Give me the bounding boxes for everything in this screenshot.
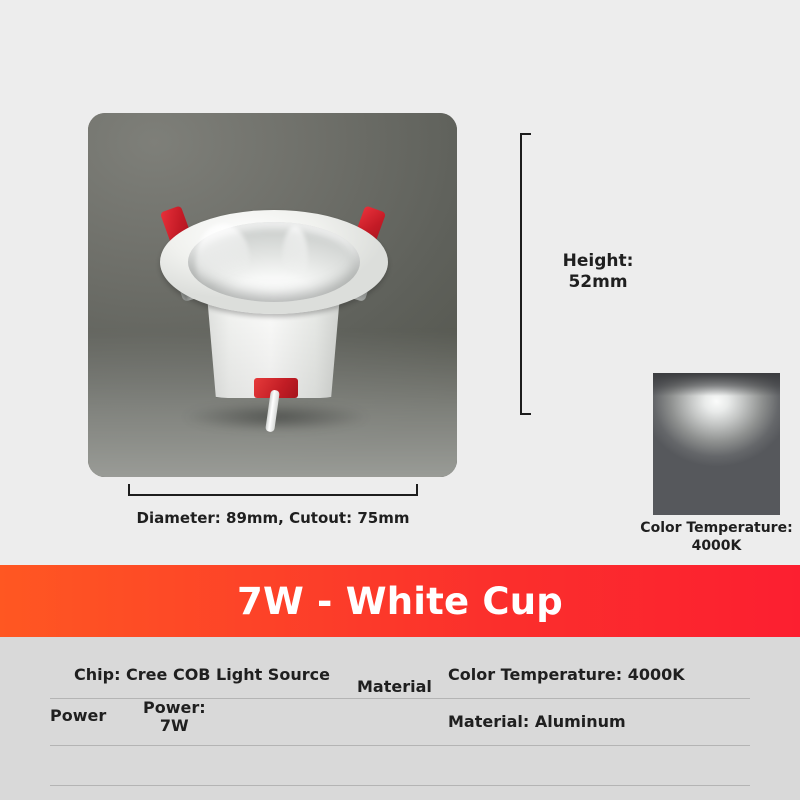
color-temperature-swatch-label: Color Temperature: 4000K xyxy=(628,520,800,555)
dimension-diagram-area: Height: 52mm Diameter: 89mm, Cutout: 75m… xyxy=(0,0,800,565)
spec-empty-cell-right xyxy=(448,745,748,785)
spec-power-empty-cell xyxy=(74,698,454,745)
product-title: 7W - White Cup xyxy=(237,583,563,620)
color-temperature-swatch[interactable] xyxy=(653,373,780,515)
spec-material-value: Material: Aluminum xyxy=(448,698,748,745)
spec-color-temperature-value: Color Temperature: 4000K xyxy=(448,651,748,698)
height-dimension-label: Height: 52mm xyxy=(533,251,663,292)
table-row xyxy=(50,745,750,786)
product-photo-card[interactable] xyxy=(88,113,457,477)
diameter-bracket-tick-right xyxy=(416,484,418,496)
swatch-top-shadow xyxy=(653,373,780,396)
product-spec-sheet: Height: 52mm Diameter: 89mm, Cutout: 75m… xyxy=(0,0,800,800)
spec-power-value: Power: 7W xyxy=(143,699,206,734)
reflector-highlight-left xyxy=(196,224,250,298)
product-title-banner: 7W - White Cup xyxy=(0,565,800,637)
height-bracket-tick-top xyxy=(520,133,531,135)
height-bracket-tick-bottom xyxy=(520,413,531,415)
diameter-dimension-bracket xyxy=(128,483,418,496)
diameter-bracket-spine xyxy=(128,494,418,496)
spec-material-label: Material xyxy=(357,678,432,696)
diameter-dimension-label: Diameter: 89mm, Cutout: 75mm xyxy=(88,509,458,527)
height-dimension-bracket xyxy=(516,133,530,415)
diameter-bracket-tick-left xyxy=(128,484,130,496)
specification-table: Chip: Cree COB Light Source Color Temper… xyxy=(0,637,800,800)
height-bracket-spine xyxy=(520,133,522,415)
downlight-product-illustration xyxy=(144,164,402,416)
reflector-highlight-right xyxy=(282,226,308,292)
spec-empty-cell-left xyxy=(74,745,454,785)
spec-power-label: Power xyxy=(50,707,106,725)
